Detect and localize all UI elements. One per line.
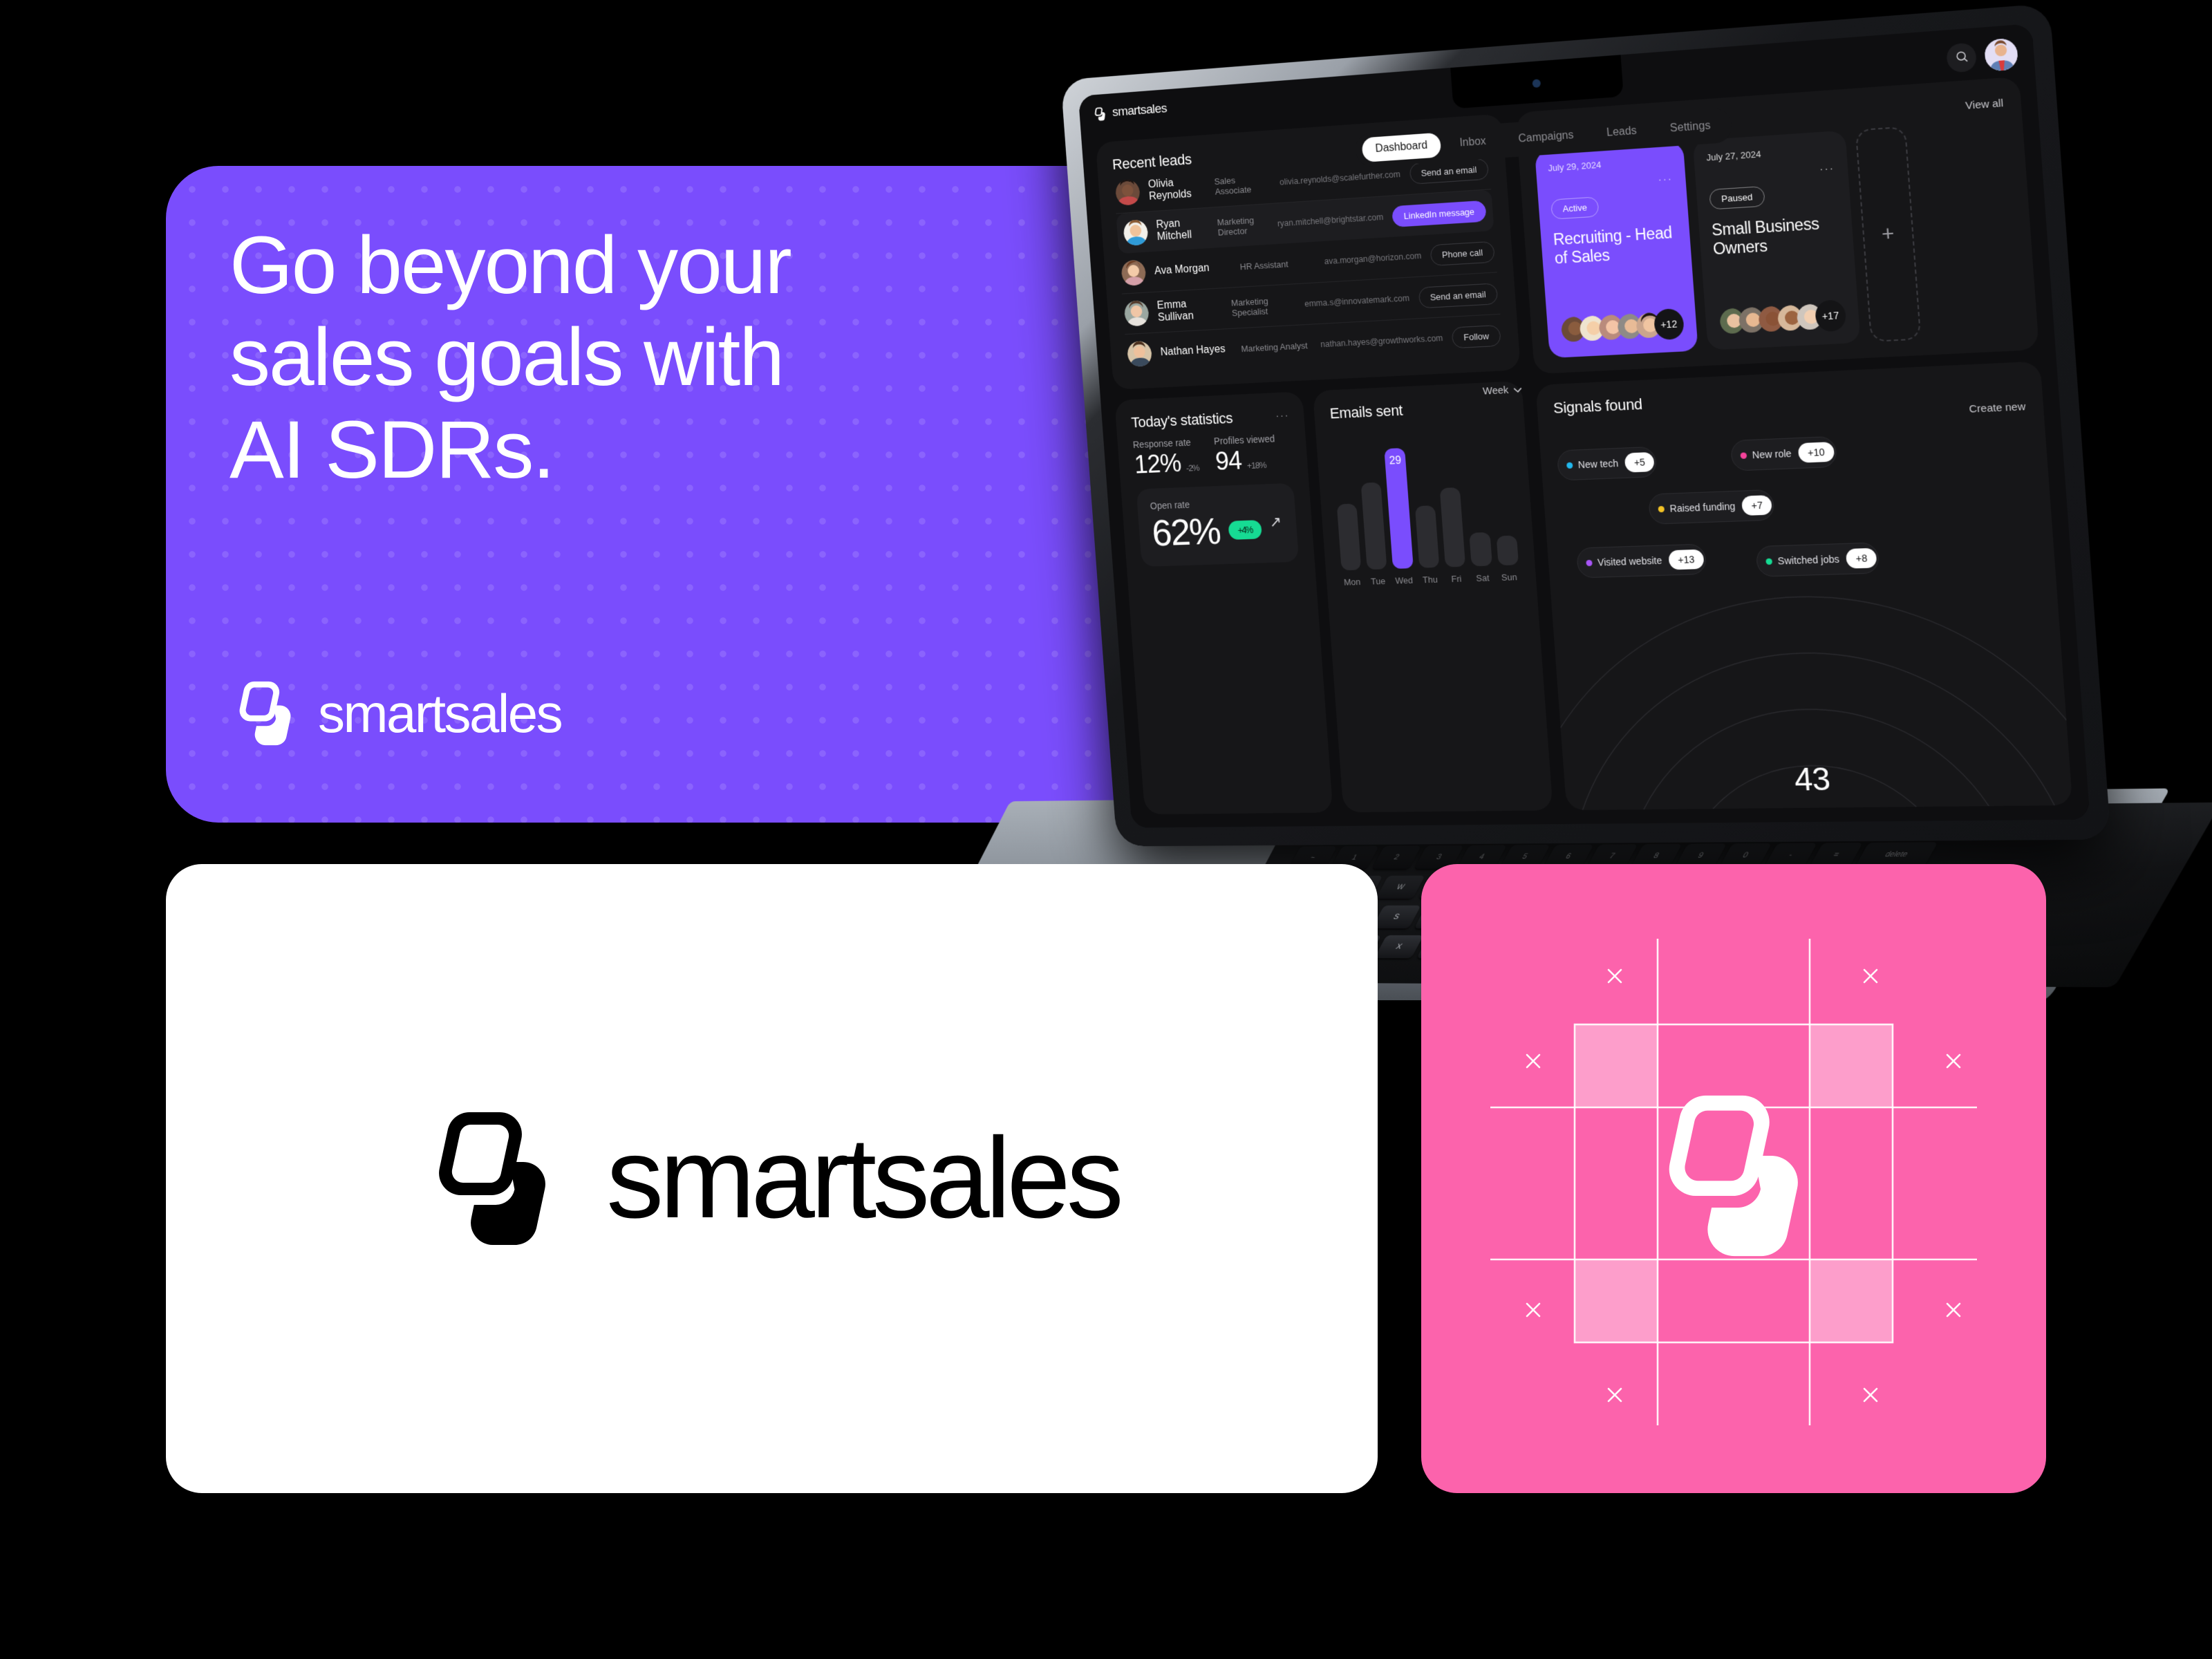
campaign-date: July 27, 2024	[1706, 144, 1834, 162]
bar-category-label: Fri	[1451, 574, 1462, 584]
lead-role: Marketing Director	[1217, 214, 1269, 238]
tab-leads[interactable]: Leads	[1592, 118, 1651, 147]
bar-value-label: 29	[1385, 455, 1405, 468]
bar-category-label: Tue	[1371, 576, 1386, 586]
open-rate-delta-badge: +4%	[1228, 520, 1262, 540]
open-rate-value: 62%	[1150, 509, 1221, 554]
signal-color-dot	[1658, 505, 1665, 512]
lead-role: HR Assistant	[1239, 257, 1315, 272]
emails-sent-title: Emails sent	[1329, 397, 1508, 422]
lead-email: olivia.reynolds@scalefurther.com	[1280, 169, 1401, 187]
lead-email: ava.morgan@horizon.com	[1324, 251, 1421, 266]
bar-category-label: Wed	[1395, 575, 1413, 586]
metric-profiles-viewed: Profiles viewed 94 +18%	[1214, 433, 1293, 477]
smartsales-logo-mark-icon	[1669, 1096, 1798, 1256]
lead-email: ryan.mitchell@brightstar.com	[1277, 212, 1383, 228]
bar[interactable]: 29	[1385, 448, 1414, 569]
bar-column: Thu	[1415, 505, 1441, 585]
lead-name: Ava Morgan	[1154, 261, 1232, 278]
signal-chip-raised-funding[interactable]: Raised funding +7	[1648, 489, 1775, 525]
signal-color-dot	[1740, 452, 1747, 458]
headline-line-2: sales goals with	[229, 312, 1100, 404]
dashboard-body: Recent leads View all Olivia Reynolds Sa…	[1096, 77, 2073, 814]
open-rate-card: Open rate ↗ 62% +4%	[1136, 483, 1299, 567]
dashboard-left-column: Recent leads View all Olivia Reynolds Sa…	[1096, 113, 1553, 814]
metric-value: 12%	[1134, 449, 1182, 480]
laptop-lid: smartsales	[1060, 3, 2110, 847]
search-icon	[1954, 49, 1969, 66]
signal-label: Visited website	[1597, 555, 1662, 568]
user-avatar[interactable]	[1984, 38, 2018, 72]
hero-brand-lockup: smartsales	[232, 680, 561, 747]
signals-found-title: Signals found	[1553, 377, 2025, 417]
signal-color-dot	[1765, 558, 1772, 564]
ellipsis-icon[interactable]: ···	[1658, 173, 1673, 186]
signal-count: +5	[1624, 452, 1655, 473]
campaign-title: Small Business Owners	[1711, 213, 1841, 259]
lead-role: Marketing Analyst	[1241, 340, 1312, 354]
tab-settings[interactable]: Settings	[1656, 113, 1726, 142]
signals-total-count: 43	[1793, 760, 1831, 798]
plus-icon: +	[1881, 222, 1895, 247]
lead-name: Ryan Mitchell	[1156, 216, 1210, 243]
lead-email: nathan.hayes@growthworks.com	[1320, 333, 1443, 349]
app-brand: smartsales	[1093, 102, 1168, 122]
headline-line-3: AI SDRs.	[229, 404, 1100, 496]
dashboard-right-column: Last campaigns View all July 29, 2024 ··…	[1515, 77, 2072, 810]
signal-chip-visited-website[interactable]: Visited website +13	[1576, 543, 1707, 578]
campaign-card[interactable]: July 29, 2024 ··· Active Recruiting - He…	[1535, 141, 1698, 358]
campaign-member-stack: +12	[1559, 308, 1685, 345]
signal-label: Switched jobs	[1777, 554, 1839, 567]
arrow-up-right-icon[interactable]: ↗	[1269, 513, 1282, 531]
hero-wordmark: smartsales	[318, 686, 561, 740]
lead-email: emma.s@innovatemark.com	[1304, 293, 1410, 308]
logo-card-wordmark: smartsales	[606, 1127, 1120, 1230]
lead-action-button[interactable]: Send an email	[1418, 283, 1498, 308]
last-campaigns-view-all[interactable]: View all	[1965, 97, 2004, 111]
lead-action-button[interactable]: Phone call	[1430, 241, 1495, 265]
bar-category-label: Sat	[1476, 572, 1490, 583]
metric-value: 94	[1215, 447, 1243, 476]
signal-label: New tech	[1577, 458, 1618, 470]
emails-sent-panel: Emails sent Week MonTue29WedThuFriSatSun	[1313, 381, 1553, 812]
campaign-title: Recruiting - Head of Sales	[1553, 223, 1679, 268]
signal-label: New role	[1752, 448, 1792, 461]
bar-column: Sat	[1469, 532, 1493, 583]
logo-construction-grid	[1421, 864, 2046, 1493]
bar[interactable]	[1336, 503, 1361, 570]
app-wordmark: smartsales	[1112, 102, 1167, 120]
search-button[interactable]	[1946, 42, 1977, 73]
bar[interactable]	[1415, 505, 1440, 568]
avatar	[1121, 259, 1146, 286]
bar-category-label: Sun	[1501, 572, 1517, 583]
dashboard-app: smartsales	[1078, 24, 2090, 827]
bar[interactable]	[1496, 536, 1519, 566]
status-badge: Paused	[1709, 186, 1765, 209]
status-badge: Active	[1550, 196, 1600, 219]
bar-category-label: Thu	[1423, 574, 1438, 585]
metric-delta: +18%	[1246, 460, 1266, 475]
header-actions	[1946, 38, 2018, 75]
laptop-screen: smartsales	[1078, 24, 2090, 827]
signal-color-dot	[1566, 462, 1573, 468]
bar-column: Mon	[1336, 503, 1362, 587]
poster-canvas: Go beyond your sales goals with AI SDRs.…	[0, 0, 2212, 1659]
range-label: Week	[1482, 384, 1508, 397]
metric-response-rate: Response rate 12% -2%	[1132, 436, 1210, 480]
signal-chip-switched-jobs[interactable]: Switched jobs +8	[1755, 542, 1880, 577]
signal-count: +10	[1798, 442, 1835, 463]
bar-column: Sun	[1496, 536, 1520, 583]
todays-statistics-title: Today's statistics	[1131, 407, 1289, 432]
smartsales-logo-mark-icon	[1093, 106, 1107, 122]
metric-delta: -2%	[1186, 462, 1200, 478]
logo-card: smartsales	[166, 864, 1378, 1493]
lead-role: Marketing Specialist	[1231, 294, 1297, 318]
lead-action-button[interactable]: Follow	[1452, 324, 1501, 348]
bar[interactable]	[1469, 532, 1492, 566]
signal-count: +8	[1846, 548, 1877, 569]
ellipsis-icon[interactable]: ···	[1819, 162, 1835, 176]
statistics-metrics: Response rate 12% -2% Profiles viewed	[1132, 433, 1292, 480]
todays-statistics-panel: Today's statistics ··· Response rate 12%…	[1114, 391, 1333, 814]
bar-column: 29Wed	[1385, 448, 1415, 586]
lead-name: Emma Sullivan	[1156, 297, 1224, 324]
add-campaign-button[interactable]: +	[1855, 126, 1921, 342]
signal-label: Raised funding	[1669, 500, 1736, 514]
lead-action-button[interactable]: LinkedIn message	[1391, 200, 1486, 227]
tab-dashboard[interactable]: Dashboard	[1361, 133, 1441, 162]
lead-name: Olivia Reynolds	[1147, 175, 1206, 203]
lead-role: Sales Associate	[1214, 173, 1271, 197]
signals-found-panel: Signals found Create new	[1535, 361, 2072, 810]
chevron-down-icon	[1512, 384, 1522, 395]
avatar	[1124, 300, 1150, 326]
smartsales-logo-mark-icon	[424, 1109, 562, 1248]
campaign-member-stack: +17	[1717, 299, 1846, 337]
tab-campaigns[interactable]: Campaigns	[1504, 122, 1588, 153]
smartsales-logo-mark-icon	[232, 680, 299, 747]
bar-category-label: Mon	[1344, 577, 1361, 587]
signal-count: +13	[1668, 550, 1704, 570]
tab-inbox[interactable]: Inbox	[1445, 129, 1501, 157]
campaign-card[interactable]: July 27, 2024 ··· Paused Small Business …	[1692, 130, 1860, 350]
signal-chip-new-role[interactable]: New role +10	[1730, 436, 1837, 471]
lead-name: Nathan Hayes	[1160, 343, 1232, 359]
logo-grid-card	[1421, 864, 2046, 1493]
bar[interactable]	[1361, 482, 1387, 570]
create-new-signal-button[interactable]: Create new	[1969, 401, 2026, 415]
laptop-mockup: esc F1 F2 F3 F4 F5 F6 F7 F8 F9 F10 F11 F…	[1060, 3, 2110, 847]
range-selector[interactable]: Week	[1482, 384, 1522, 397]
bar-column: Fri	[1440, 487, 1468, 584]
avatar	[1127, 341, 1152, 367]
campaign-date: July 29, 2024	[1548, 155, 1672, 174]
hero-headline: Go beyond your sales goals with AI SDRs.	[229, 220, 1100, 496]
avatar	[1115, 179, 1141, 206]
ellipsis-icon[interactable]: ···	[1275, 410, 1290, 422]
bar-column: Tue	[1361, 482, 1389, 587]
avatar	[1123, 219, 1148, 246]
emails-sent-bar-chart: MonTue29WedThuFriSatSun	[1332, 438, 1519, 588]
campaign-card-list: July 29, 2024 ··· Active Recruiting - He…	[1535, 120, 2021, 358]
bar[interactable]	[1440, 487, 1466, 568]
signal-color-dot	[1586, 559, 1593, 565]
signal-count: +7	[1741, 495, 1772, 516]
signal-chip-new-tech[interactable]: New tech +5	[1557, 447, 1658, 481]
headline-line-1: Go beyond your	[229, 220, 1100, 312]
